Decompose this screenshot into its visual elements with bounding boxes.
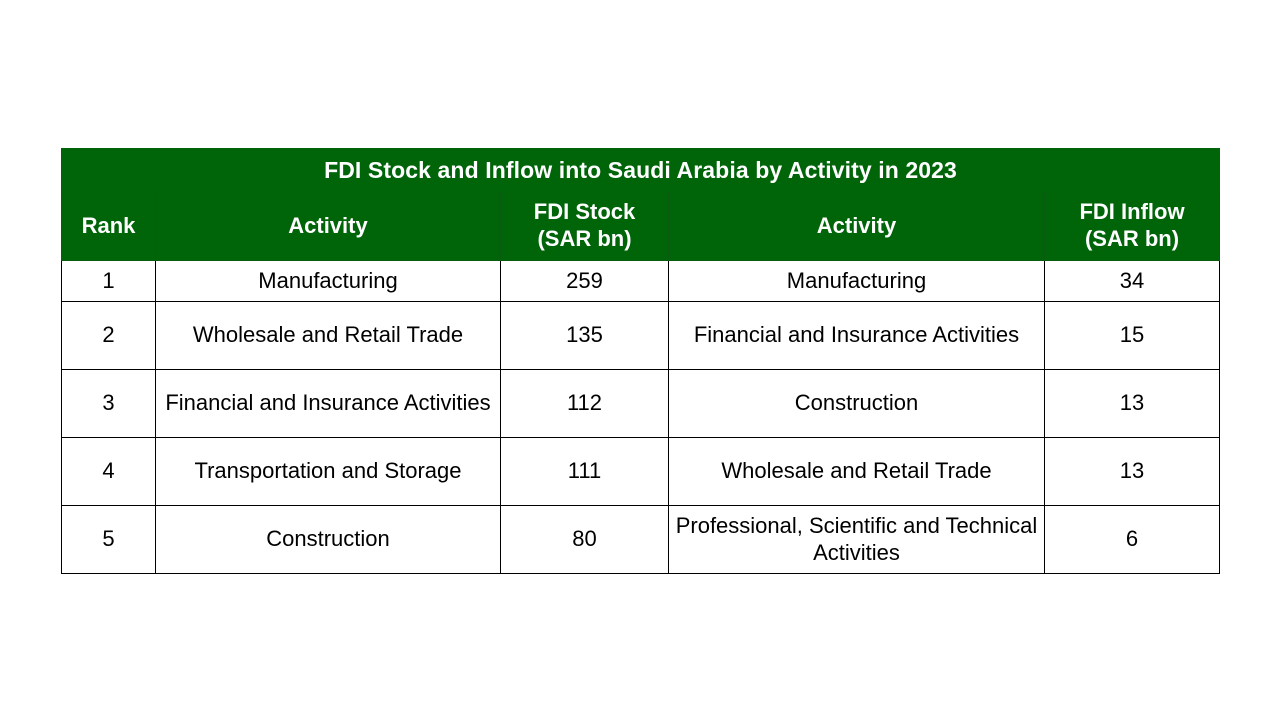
cell-activity-stock: Financial and Insurance Activities	[156, 370, 501, 438]
cell-fdi-inflow: 13	[1045, 370, 1220, 438]
cell-rank: 1	[62, 261, 156, 302]
cell-activity-inflow: Wholesale and Retail Trade	[669, 438, 1045, 506]
cell-activity-inflow: Professional, Scientific and Technical A…	[669, 506, 1045, 574]
cell-rank: 4	[62, 438, 156, 506]
column-header-fdi-inflow-line1: FDI Inflow	[1079, 199, 1184, 224]
table-row: 3 Financial and Insurance Activities 112…	[62, 370, 1220, 438]
cell-activity-inflow: Financial and Insurance Activities	[669, 302, 1045, 370]
table-row: 5 Construction 80 Professional, Scientif…	[62, 506, 1220, 574]
table-title: FDI Stock and Inflow into Saudi Arabia b…	[62, 149, 1220, 192]
cell-fdi-stock: 112	[501, 370, 669, 438]
table-head: FDI Stock and Inflow into Saudi Arabia b…	[62, 149, 1220, 261]
cell-activity-inflow: Construction	[669, 370, 1045, 438]
column-header-activity-inflow[interactable]: Activity	[669, 192, 1045, 261]
column-header-fdi-stock-line1: FDI Stock	[534, 199, 635, 224]
cell-fdi-inflow: 34	[1045, 261, 1220, 302]
cell-fdi-inflow: 6	[1045, 506, 1220, 574]
column-header-fdi-inflow[interactable]: FDI Inflow (SAR bn)	[1045, 192, 1220, 261]
page-canvas: FDI Stock and Inflow into Saudi Arabia b…	[0, 0, 1280, 720]
table-row: 4 Transportation and Storage 111 Wholesa…	[62, 438, 1220, 506]
cell-activity-inflow: Manufacturing	[669, 261, 1045, 302]
cell-fdi-inflow: 15	[1045, 302, 1220, 370]
cell-fdi-stock: 80	[501, 506, 669, 574]
cell-activity-stock: Construction	[156, 506, 501, 574]
column-header-activity-stock[interactable]: Activity	[156, 192, 501, 261]
cell-rank: 5	[62, 506, 156, 574]
cell-activity-stock: Manufacturing	[156, 261, 501, 302]
table-body: 1 Manufacturing 259 Manufacturing 34 2 W…	[62, 261, 1220, 574]
cell-rank: 2	[62, 302, 156, 370]
column-header-rank[interactable]: Rank	[62, 192, 156, 261]
cell-fdi-inflow: 13	[1045, 438, 1220, 506]
cell-fdi-stock: 135	[501, 302, 669, 370]
column-header-fdi-stock[interactable]: FDI Stock (SAR bn)	[501, 192, 669, 261]
table-row: 1 Manufacturing 259 Manufacturing 34	[62, 261, 1220, 302]
cell-activity-stock: Transportation and Storage	[156, 438, 501, 506]
column-header-fdi-stock-line2: (SAR bn)	[537, 226, 631, 251]
table-header-row: Rank Activity FDI Stock (SAR bn) Activit…	[62, 192, 1220, 261]
table-row: 2 Wholesale and Retail Trade 135 Financi…	[62, 302, 1220, 370]
cell-activity-stock: Wholesale and Retail Trade	[156, 302, 501, 370]
cell-fdi-stock: 111	[501, 438, 669, 506]
cell-rank: 3	[62, 370, 156, 438]
table-title-row: FDI Stock and Inflow into Saudi Arabia b…	[62, 149, 1220, 192]
fdi-table: FDI Stock and Inflow into Saudi Arabia b…	[61, 148, 1220, 574]
column-header-fdi-inflow-line2: (SAR bn)	[1085, 226, 1179, 251]
cell-fdi-stock: 259	[501, 261, 669, 302]
fdi-table-container: FDI Stock and Inflow into Saudi Arabia b…	[61, 148, 1219, 574]
